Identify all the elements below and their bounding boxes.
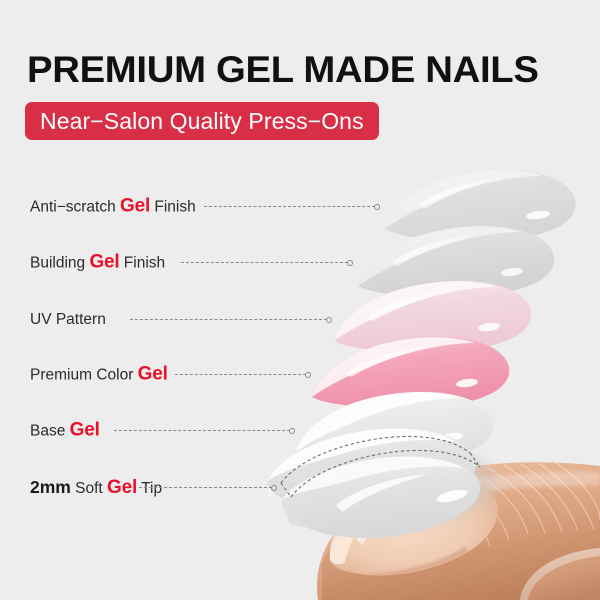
callout-premium-color-gel: Premium Color Gel [0,362,600,388]
callout-uv-pattern: UV Pattern [0,307,600,333]
leader-line [175,374,306,376]
callout-base-gel: Base Gel [0,418,600,444]
leader-endpoint-dot [305,372,311,378]
leader-line [204,206,375,208]
leader-endpoint-dot [347,260,353,266]
product-infographic: PREMIUM GEL MADE NAILS Near−Salon Qualit… [0,0,600,600]
callout-label: Base Gel [30,421,100,442]
callout-2mm-soft-gel-tip: 2mm Soft Gel Tip [0,475,600,501]
callout-label: Anti−scratch Gel Finish [30,197,196,218]
callout-anti-scratch-gel-finish: Anti−scratch Gel Finish [0,194,600,220]
subtitle-badge: Near−Salon Quality Press−Ons [25,102,379,140]
leader-line [130,319,327,321]
page-title: PREMIUM GEL MADE NAILS [27,48,598,92]
leader-line [114,430,290,432]
callout-label: UV Pattern [30,310,106,330]
callout-building-gel-finish: Building Gel Finish [0,250,600,276]
callout-label: Building Gel Finish [30,253,165,274]
leader-line [181,262,348,264]
leader-endpoint-dot [271,485,277,491]
leader-endpoint-dot [326,317,332,323]
leader-endpoint-dot [374,204,380,210]
callout-label: Premium Color Gel [30,365,168,386]
leader-line [139,487,272,489]
leader-endpoint-dot [289,428,295,434]
